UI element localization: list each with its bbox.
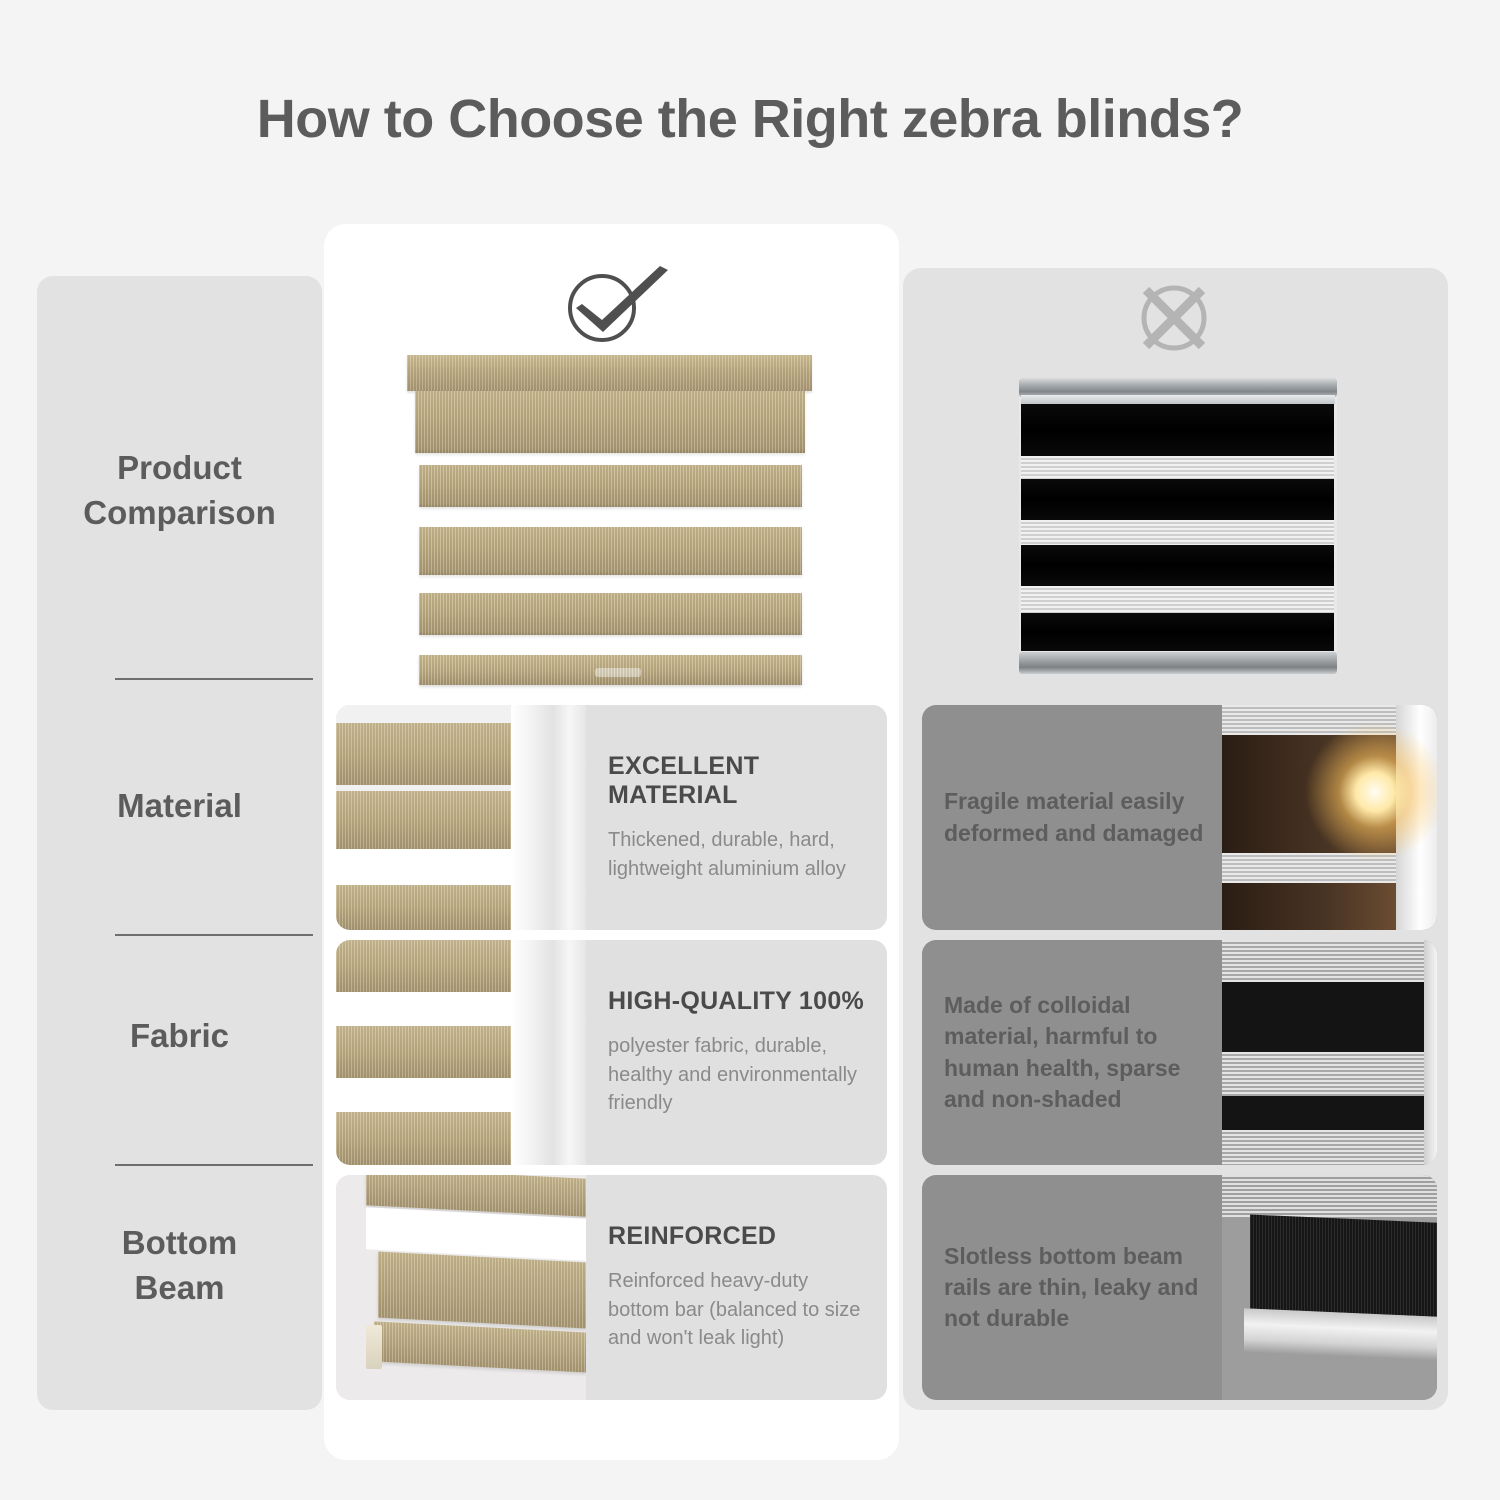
positive-hero-image (407, 355, 812, 695)
positive-feature-bottom-beam: REINFORCED Reinforced heavy-duty bottom … (336, 1175, 887, 1400)
feature-body: Reinforced heavy-duty bottom bar (balanc… (608, 1267, 865, 1352)
white-gap (336, 849, 516, 885)
sheer-band (1222, 1175, 1437, 1217)
black-opaque-band (1021, 545, 1334, 586)
beam-end-cap (366, 1325, 382, 1369)
tan-slat (336, 1112, 516, 1165)
row-label-line: Material (117, 784, 242, 829)
label-divider (115, 1164, 313, 1166)
positive-feature-material: EXCELLENT MATERIAL Thickened, durable, h… (336, 705, 887, 930)
page-title: How to Choose the Right zebra blinds? (0, 88, 1500, 150)
row-label-line: Comparison (83, 494, 276, 531)
black-headrail-lip (1021, 395, 1335, 404)
row-label-line: Product (117, 449, 242, 486)
thin-bottom-rail-closeup (1222, 1175, 1437, 1400)
tan-slat (336, 885, 516, 930)
feature-title: EXCELLENT MATERIAL (608, 752, 865, 810)
thin-bottom-rail (1244, 1308, 1437, 1361)
tan-bottom-bar (419, 655, 802, 685)
feature-body: Thickened, durable, hard, lightweight al… (608, 826, 865, 883)
positive-feature-fabric: HIGH-QUALITY 100% polyester fabric, dura… (336, 940, 887, 1165)
tan-blind-fabric-closeup (336, 940, 586, 1165)
row-label-line: Bottom (122, 1224, 237, 1261)
check-circle-icon (556, 264, 676, 346)
feature-body: Fragile material easily deformed and dam… (944, 786, 1222, 849)
dark-band (1222, 1096, 1437, 1130)
feature-body: Made of colloidal material, harmful to h… (944, 990, 1222, 1115)
black-opaque-band (1021, 613, 1334, 651)
sparse-fabric-closeup (1222, 940, 1437, 1165)
label-divider (115, 678, 313, 680)
black-sheer-band (1021, 520, 1334, 545)
row-label-fabric: Fabric (37, 1006, 322, 1066)
tan-slat (419, 465, 802, 507)
row-label-line: Fabric (130, 1014, 229, 1059)
tan-blind-headrail-closeup (336, 705, 586, 930)
negative-hero-image (1019, 378, 1337, 674)
feature-body: Slotless bottom beam rails are thin, lea… (944, 1241, 1222, 1335)
tan-slat (415, 391, 805, 453)
tan-slat (419, 593, 802, 635)
window-frame (511, 940, 586, 1165)
feature-text-block: REINFORCED Reinforced heavy-duty bottom … (586, 1175, 887, 1400)
feature-title: HIGH-QUALITY 100% (608, 987, 865, 1016)
sheer-band (1222, 940, 1437, 982)
tan-slat (336, 940, 516, 992)
tan-slat (419, 527, 802, 575)
tan-slat (336, 723, 516, 785)
negative-feature-material: Fragile material easily deformed and dam… (922, 705, 1437, 930)
white-gap (336, 1078, 516, 1112)
black-opaque-band (1021, 404, 1334, 456)
sheer-band (1222, 1130, 1437, 1165)
tan-bottom-bar (374, 1321, 586, 1372)
tan-beam (378, 1252, 586, 1329)
light-leak-window-closeup (1222, 705, 1437, 930)
row-label-bottom-beam: Bottom Beam (37, 1211, 322, 1321)
feature-text-block: EXCELLENT MATERIAL Thickened, durable, h… (586, 705, 887, 930)
dark-band (1250, 1215, 1437, 1318)
tan-bottom-beam-closeup (336, 1175, 586, 1400)
white-gap (336, 992, 516, 1026)
tan-slat (336, 1026, 516, 1078)
cross-circle-icon (1128, 280, 1220, 354)
feature-body: polyester fabric, durable, healthy and e… (608, 1032, 865, 1117)
negative-feature-bottom-beam: Slotless bottom beam rails are thin, lea… (922, 1175, 1437, 1400)
black-sheer-band (1021, 586, 1334, 613)
dark-band (1222, 982, 1437, 1052)
row-label-material: Material (37, 776, 322, 836)
window-frame (1424, 940, 1437, 1165)
feature-text-block: Made of colloidal material, harmful to h… (922, 940, 1222, 1165)
row-label-line: Beam (135, 1269, 225, 1306)
feature-text-block: Fragile material easily deformed and dam… (922, 705, 1222, 930)
row-label-panel: Product Comparison Material Fabric Botto… (37, 276, 322, 1410)
tan-headrail (407, 355, 812, 391)
tan-bottom-grip (595, 668, 641, 677)
sun-flare (1300, 717, 1437, 867)
black-bottom-rail (1019, 652, 1337, 674)
sheer-band (1222, 1052, 1437, 1096)
feature-title: REINFORCED (608, 1222, 865, 1251)
feature-text-block: Slotless bottom beam rails are thin, lea… (922, 1175, 1222, 1400)
tan-slat (336, 791, 516, 849)
black-sheer-band (1021, 456, 1334, 479)
row-label-product-comparison: Product Comparison (37, 436, 322, 546)
label-divider (115, 934, 313, 936)
feature-text-block: HIGH-QUALITY 100% polyester fabric, dura… (586, 940, 887, 1165)
window-frame (511, 705, 586, 930)
negative-feature-fabric: Made of colloidal material, harmful to h… (922, 940, 1437, 1165)
black-opaque-band (1021, 479, 1334, 520)
dark-band (1222, 883, 1401, 930)
